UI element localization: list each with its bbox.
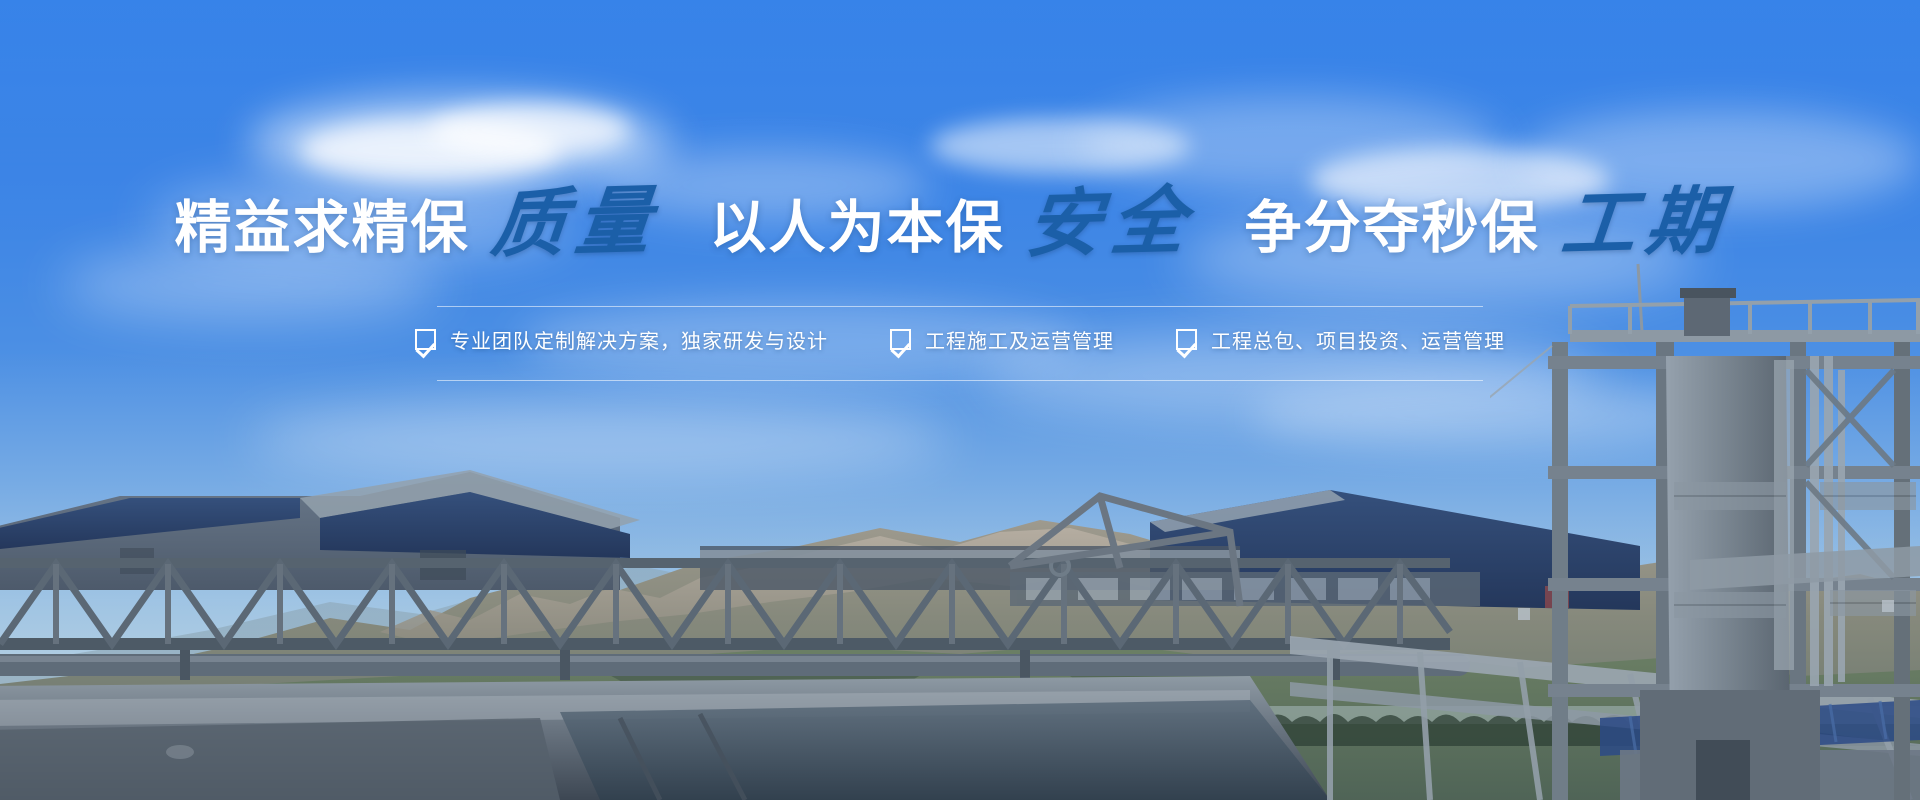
feature-label-2: 工程施工及运营管理 [925, 325, 1114, 354]
headline-calligraphy-quality: 质量 [466, 183, 680, 262]
headline-segment-3: 争分夺秒保 [1245, 200, 1540, 260]
hero-content: 精益求精保 质量 以人为本保 安全 争分夺秒保 工期 专业团队定制解决方案，独家… [0, 186, 1920, 381]
headline-segment-2: 以人为本保 [710, 200, 1005, 260]
feature-list: 专业团队定制解决方案，独家研发与设计 工程施工及运营管理 工程总包、项目投资、运… [0, 325, 1920, 354]
feature-label-3: 工程总包、项目投资、运营管理 [1211, 325, 1505, 354]
checkbox-checked-icon [1176, 329, 1197, 350]
headline-calligraphy-safety: 安全 [1001, 183, 1215, 262]
hero-banner: 精益求精保 质量 以人为本保 安全 争分夺秒保 工期 专业团队定制解决方案，独家… [0, 0, 1920, 800]
feature-item-2: 工程施工及运营管理 [890, 325, 1114, 354]
feature-label-1: 专业团队定制解决方案，独家研发与设计 [450, 325, 828, 354]
headline: 精益求精保 质量 以人为本保 安全 争分夺秒保 工期 [175, 186, 1746, 260]
headline-segment-1: 精益求精保 [175, 200, 470, 260]
divider-bottom [437, 380, 1483, 381]
divider-top [437, 306, 1483, 307]
feature-item-3: 工程总包、项目投资、运营管理 [1176, 325, 1505, 354]
checkbox-checked-icon [890, 329, 911, 350]
feature-item-1: 专业团队定制解决方案，独家研发与设计 [415, 325, 828, 354]
checkbox-checked-icon [415, 329, 436, 350]
headline-calligraphy-schedule: 工期 [1536, 183, 1750, 262]
